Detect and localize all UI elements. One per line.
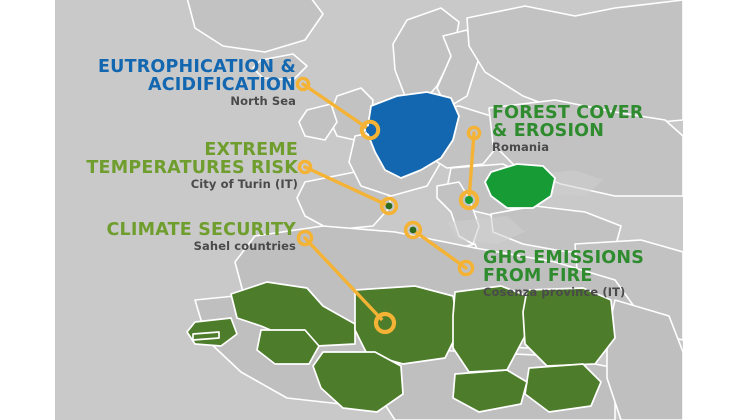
callout-climate-security: CLIMATE SECURITY Sahel countries: [60, 221, 296, 253]
callout-title-line1: GHG EMISSIONS: [483, 249, 644, 267]
callout-title-line2: FROM FIRE: [483, 267, 644, 285]
callout-title-line2: ACIDIFICATION: [60, 76, 296, 94]
callout-subtitle: City of Turin (IT): [60, 179, 298, 191]
callout-extreme-temperatures-risk: EXTREME TEMPERATURES RISK City of Turin …: [60, 141, 298, 191]
callout-title-line1: EUTROPHICATION &: [60, 58, 296, 76]
callout-title-line1: FOREST COVER: [492, 104, 644, 122]
callout-subtitle: Cosenza province (IT): [483, 287, 644, 299]
sahel-gambia: [193, 332, 219, 340]
callout-subtitle: Sahel countries: [60, 241, 296, 253]
sahel-sudan: [523, 288, 615, 366]
callout-title-line2: TEMPERATURES RISK: [60, 159, 298, 177]
callout-eutrophication-acidification: EUTROPHICATION & ACIDIFICATION North Sea: [60, 58, 296, 108]
callout-title-line1: EXTREME: [60, 141, 298, 159]
callout-forest-cover-erosion: FOREST COVER & EROSION Romania: [492, 104, 644, 154]
callout-subtitle: North Sea: [60, 96, 296, 108]
callout-ghg-emissions-from-fire: GHG EMISSIONS FROM FIRE Cosenza province…: [483, 249, 644, 299]
callout-subtitle: Romania: [492, 142, 644, 154]
callout-title-line2: & EROSION: [492, 122, 644, 140]
callout-title-line1: CLIMATE SECURITY: [60, 221, 296, 239]
infographic-root: .land { fill:#c2c2c2; stroke:#ffffff; st…: [0, 0, 747, 420]
